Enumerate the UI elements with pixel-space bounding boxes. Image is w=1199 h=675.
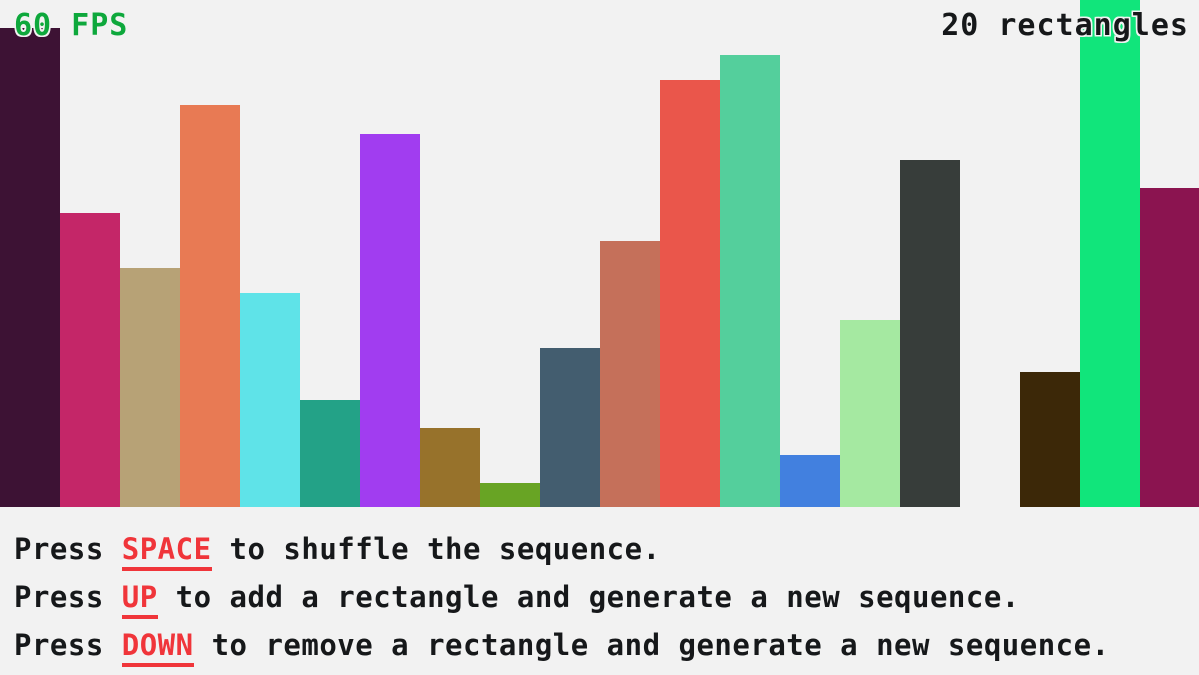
instruction-prefix: Press xyxy=(14,532,122,566)
bar-5-cyan xyxy=(240,293,300,507)
bar-chart-canvas[interactable] xyxy=(0,0,1199,509)
bar-12-red xyxy=(660,80,720,507)
bar-2-magenta xyxy=(60,213,120,507)
bar-10-slate-blue xyxy=(540,348,600,507)
bar-19-spring-green xyxy=(1080,0,1140,507)
bar-15-light-green xyxy=(840,320,900,507)
bar-11-terracotta xyxy=(600,241,660,507)
instructions-panel: Press SPACE to shuffle the sequence.Pres… xyxy=(0,509,1199,675)
instruction-line-2: Press UP to add a rectangle and generate… xyxy=(14,573,1199,621)
instruction-line-1: Press SPACE to shuffle the sequence. xyxy=(14,525,1199,573)
key-badge-down[interactable]: DOWN xyxy=(122,628,194,667)
bar-7-purple xyxy=(360,134,420,507)
instruction-prefix: Press xyxy=(14,580,122,614)
bar-3-tan xyxy=(120,268,180,507)
bar-18-dark-brown xyxy=(1020,372,1080,507)
bar-4-orange xyxy=(180,105,240,507)
fps-counter: 60 FPS xyxy=(14,11,128,41)
bar-20-maroon xyxy=(1140,188,1199,507)
bar-6-teal xyxy=(300,400,360,507)
rectangle-count-label: 20 rectangles xyxy=(941,11,1189,41)
bar-1-dark-plum xyxy=(0,28,60,507)
instruction-prefix: Press xyxy=(14,628,122,662)
key-badge-up[interactable]: UP xyxy=(122,580,158,619)
instruction-suffix: to add a rectangle and generate a new se… xyxy=(158,580,1020,614)
bar-9-olive-green xyxy=(480,483,540,507)
bar-13-sea-green xyxy=(720,55,780,507)
instruction-line-3: Press DOWN to remove a rectangle and gen… xyxy=(14,621,1199,669)
key-badge-space[interactable]: SPACE xyxy=(122,532,212,571)
bar-16-charcoal xyxy=(900,160,960,507)
instruction-suffix: to remove a rectangle and generate a new… xyxy=(194,628,1110,662)
bar-14-royal-blue xyxy=(780,455,840,507)
bar-8-brown xyxy=(420,428,480,507)
instruction-suffix: to shuffle the sequence. xyxy=(212,532,661,566)
rectangles-demo-app: 60 FPS 20 rectangles Press SPACE to shuf… xyxy=(0,0,1199,675)
